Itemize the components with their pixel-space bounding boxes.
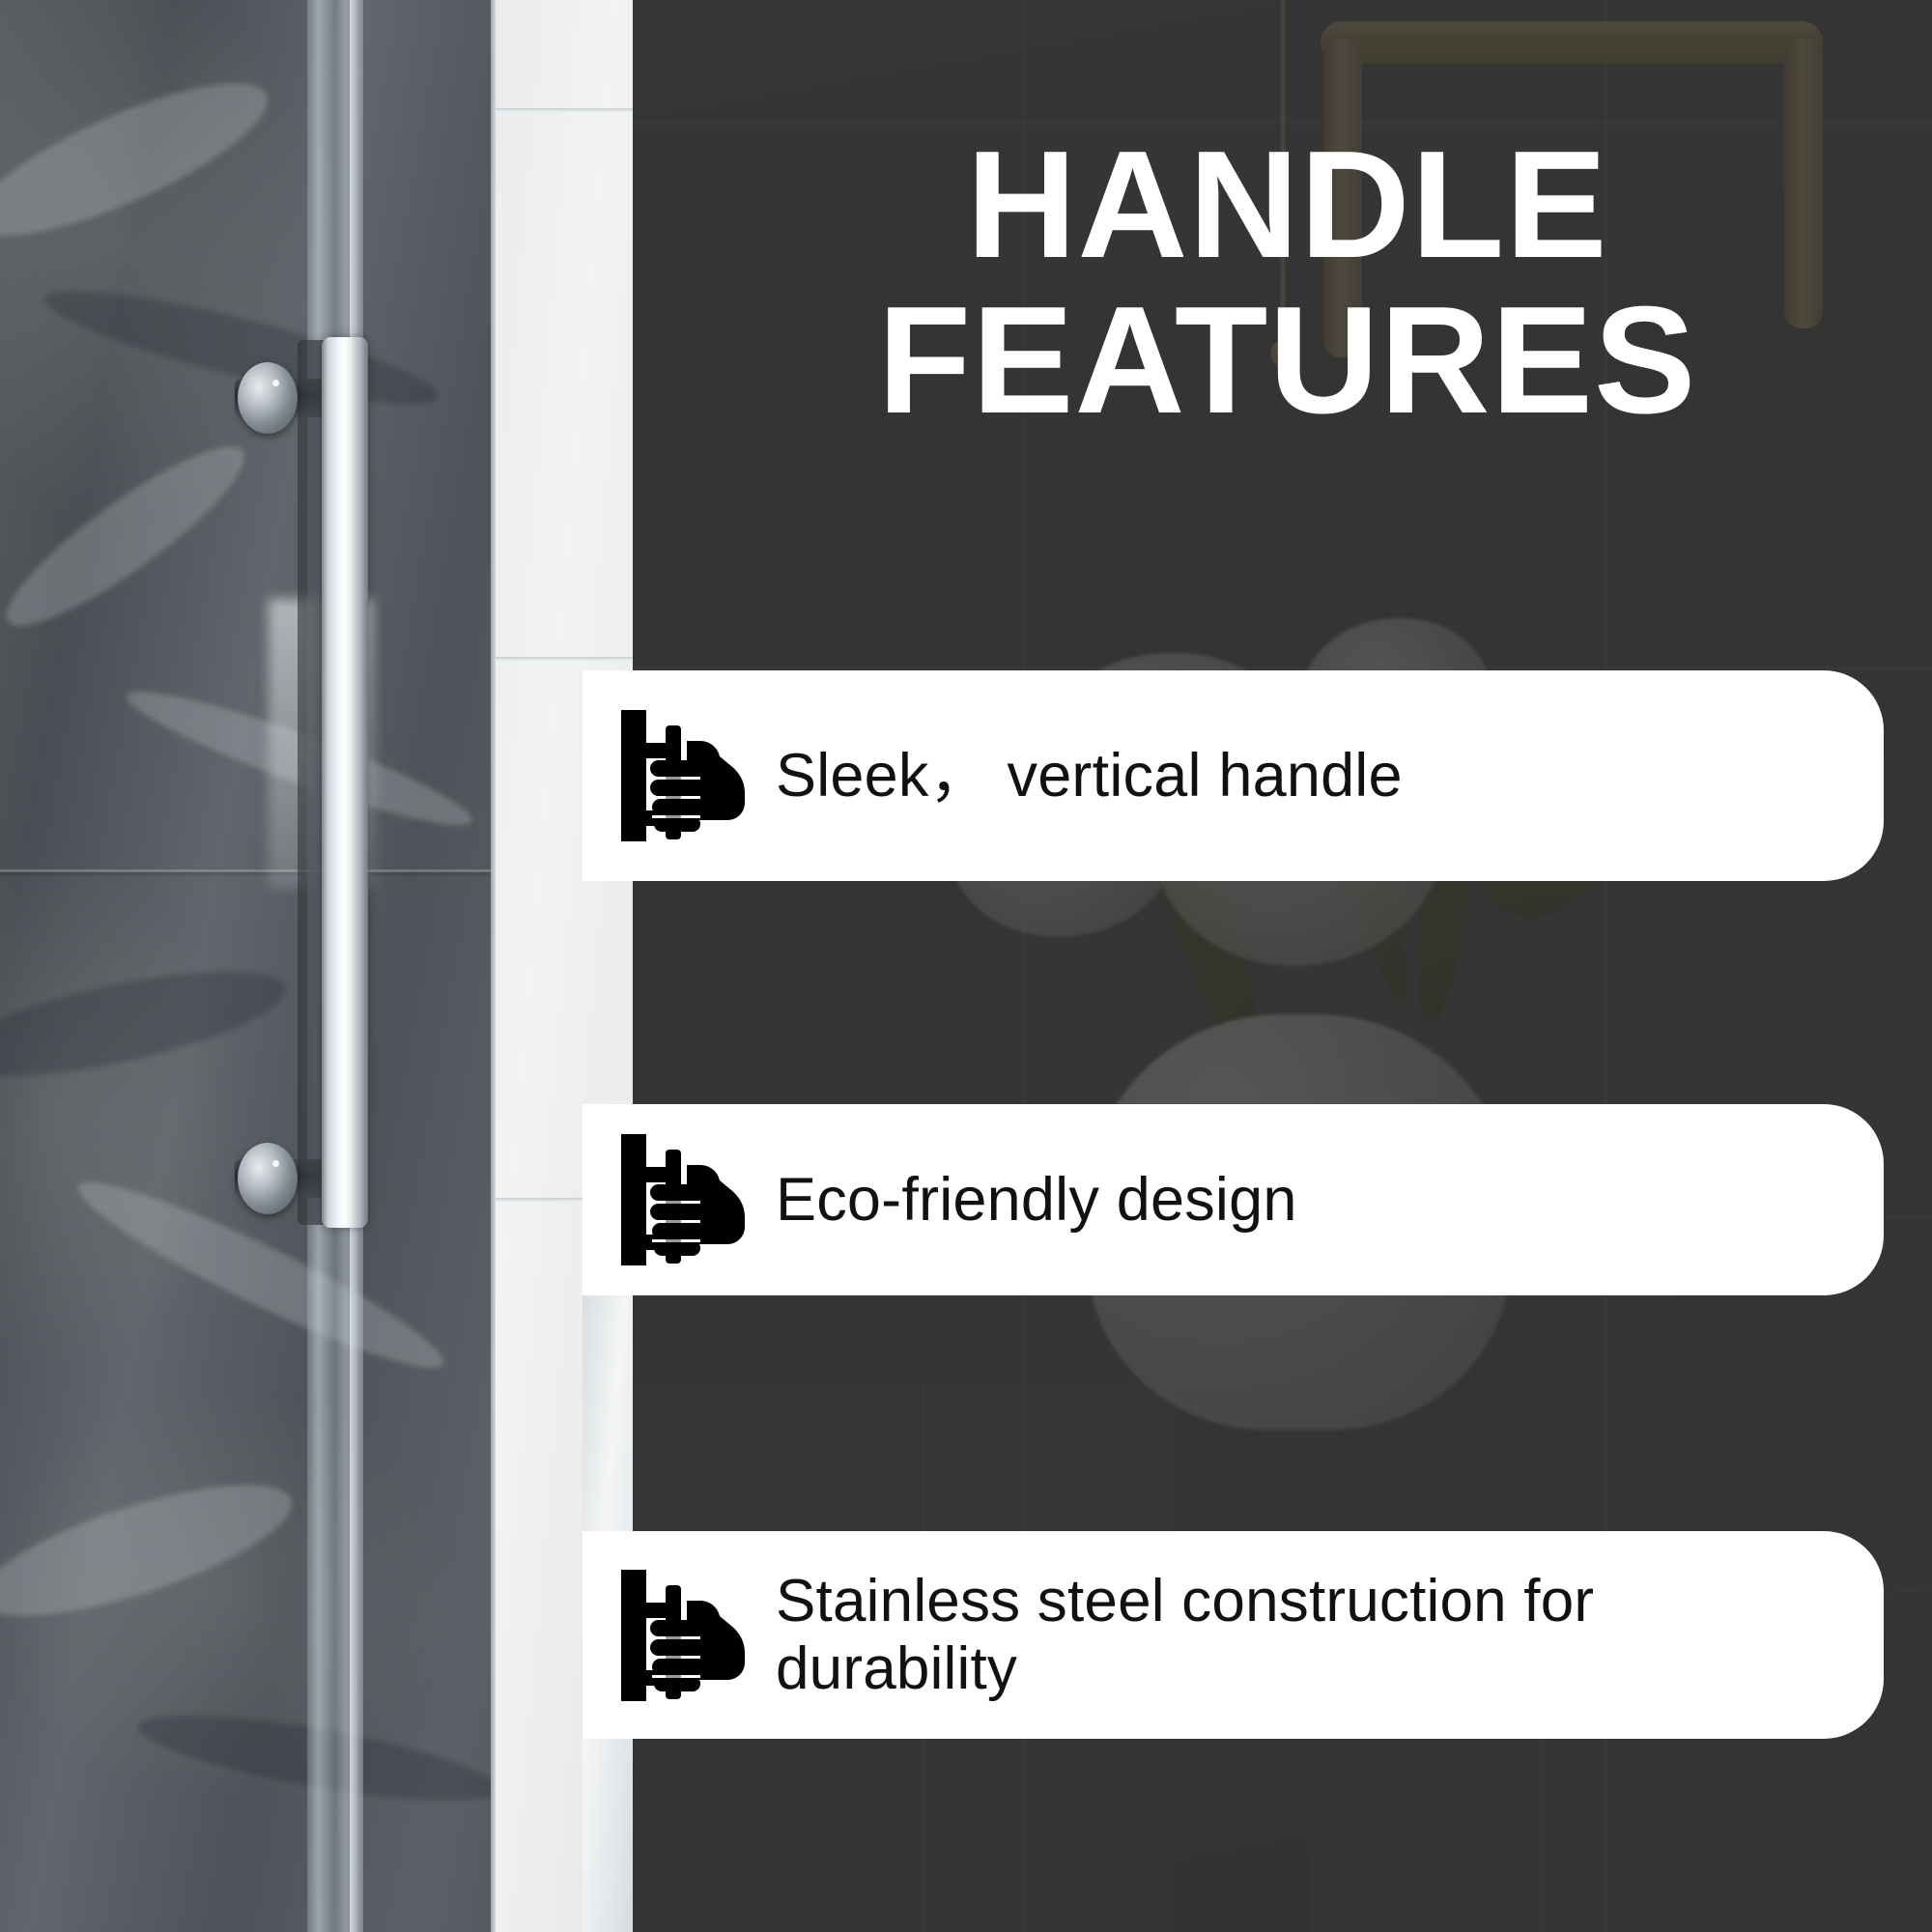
hand-gripping-handle-icon [611,704,754,847]
handle-mount-boss-top [238,362,298,434]
tile-edge-trim [491,0,496,1932]
handle-mount-boss-bottom [238,1143,298,1214]
feature-label: Sleek， vertical handle [754,742,1884,810]
feature-label: Stainless steel construction for durabil… [754,1568,1884,1702]
hand-gripping-handle-icon [611,1128,754,1271]
feature-label: Eco-friendly design [754,1166,1884,1235]
shower-handle-photo [0,0,633,1932]
hand-gripping-handle-icon [611,1564,754,1707]
page-title: HANDLE FEATURES [676,128,1898,439]
feature-graphic-canvas: HANDLE FEATURES [0,0,1932,1932]
feature-item: Stainless steel construction for durabil… [582,1531,1884,1739]
feature-item: Sleek， vertical handle [582,670,1884,881]
feature-item: Eco-friendly design [582,1104,1884,1295]
title-line-2: FEATURES [676,283,1898,439]
chrome-vertical-handle [322,337,368,1228]
title-line-1: HANDLE [676,128,1898,283]
